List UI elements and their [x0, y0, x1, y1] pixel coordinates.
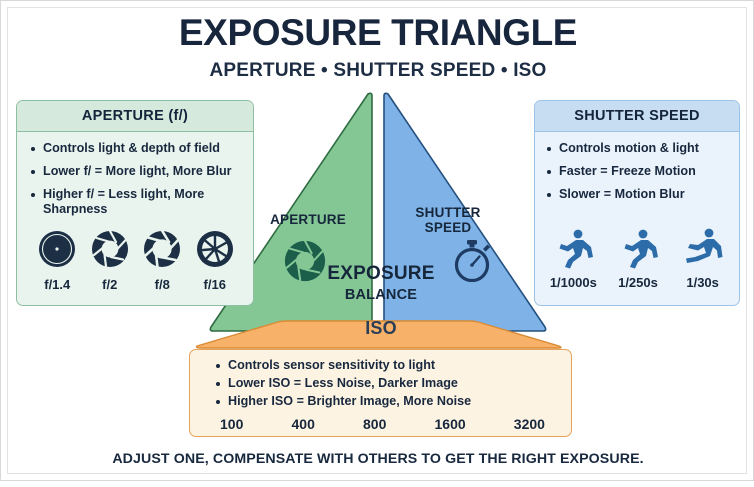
aperture-panel-body: Controls light & depth of field Lower f/…: [17, 132, 253, 217]
page-subtitle: APERTURE • SHUTTER SPEED • ISO: [1, 60, 754, 82]
iso-scale-value: 400: [292, 416, 315, 432]
aperture-stop-label: f/1.4: [34, 277, 80, 292]
aperture-stop-item: f/1.4: [34, 229, 80, 292]
aperture-bullet-list: Controls light & depth of field Lower f/…: [29, 141, 243, 217]
aperture-stop-label: f/8: [139, 277, 185, 292]
shutter-speed-item: 1/30s: [672, 227, 734, 290]
iso-scale: 100 400 800 1600 3200: [190, 412, 571, 432]
list-item: Lower ISO = Less Noise, Darker Image: [214, 376, 571, 391]
shutter-speed-label: 1/250s: [607, 275, 669, 290]
aperture-panel-heading: APERTURE (f/): [17, 101, 253, 132]
list-item: Lower f/ = More light, More Blur: [29, 164, 243, 179]
shutter-panel-heading: SHUTTER SPEED: [535, 101, 739, 132]
list-item: Slower = Motion Blur: [545, 187, 731, 202]
aperture-stop-item: f/8: [139, 229, 185, 292]
aperture-stop-label: f/16: [192, 277, 238, 292]
list-item: Controls motion & light: [545, 141, 731, 156]
runner-icon: [552, 227, 594, 269]
iso-scale-value: 3200: [514, 416, 545, 432]
shutter-bullet-list: Controls motion & light Faster = Freeze …: [545, 141, 731, 202]
list-item: Faster = Freeze Motion: [545, 164, 731, 179]
aperture-stop-item: f/16: [192, 229, 238, 292]
iso-panel: Controls sensor sensitivity to light Low…: [189, 349, 572, 437]
iso-bullet-list: Controls sensor sensitivity to light Low…: [190, 358, 571, 409]
iso-scale-value: 1600: [435, 416, 466, 432]
footer-note: ADJUST ONE, COMPENSATE WITH OTHERS TO GE…: [1, 451, 754, 467]
aperture-iris-icon: [142, 229, 182, 269]
page-title: EXPOSURE TRIANGLE: [1, 14, 754, 51]
runner-icon: [682, 227, 724, 269]
shutter-speed-item: 1/250s: [607, 227, 669, 290]
shutter-panel-body: Controls motion & light Faster = Freeze …: [535, 132, 739, 202]
aperture-iris-icon: [195, 229, 235, 269]
aperture-iris-icon: [37, 229, 77, 269]
list-item: Controls light & depth of field: [29, 141, 243, 156]
shutter-speed-label: 1/30s: [672, 275, 734, 290]
list-item: Higher f/ = Less light, More Sharpness: [29, 187, 243, 217]
aperture-stop-label: f/2: [87, 277, 133, 292]
list-item: Controls sensor sensitivity to light: [214, 358, 571, 373]
iso-scale-value: 800: [363, 416, 386, 432]
aperture-panel: APERTURE (f/) Controls light & depth of …: [16, 100, 254, 306]
shutter-speed-panel: SHUTTER SPEED Controls motion & light Fa…: [534, 100, 740, 306]
aperture-stop-strip: f/1.4 f/: [17, 229, 254, 292]
runner-icon: [617, 227, 659, 269]
shutter-speed-label: 1/1000s: [542, 275, 604, 290]
aperture-iris-icon: [90, 229, 130, 269]
shutter-speed-strip: 1/1000s 1/250s 1/30s: [535, 227, 740, 290]
list-item: Higher ISO = Brighter Image, More Noise: [214, 394, 571, 409]
infographic-root: EXPOSURE TRIANGLE APERTURE • SHUTTER SPE…: [0, 0, 754, 481]
iso-scale-value: 100: [220, 416, 243, 432]
aperture-stop-item: f/2: [87, 229, 133, 292]
shutter-speed-item: 1/1000s: [542, 227, 604, 290]
